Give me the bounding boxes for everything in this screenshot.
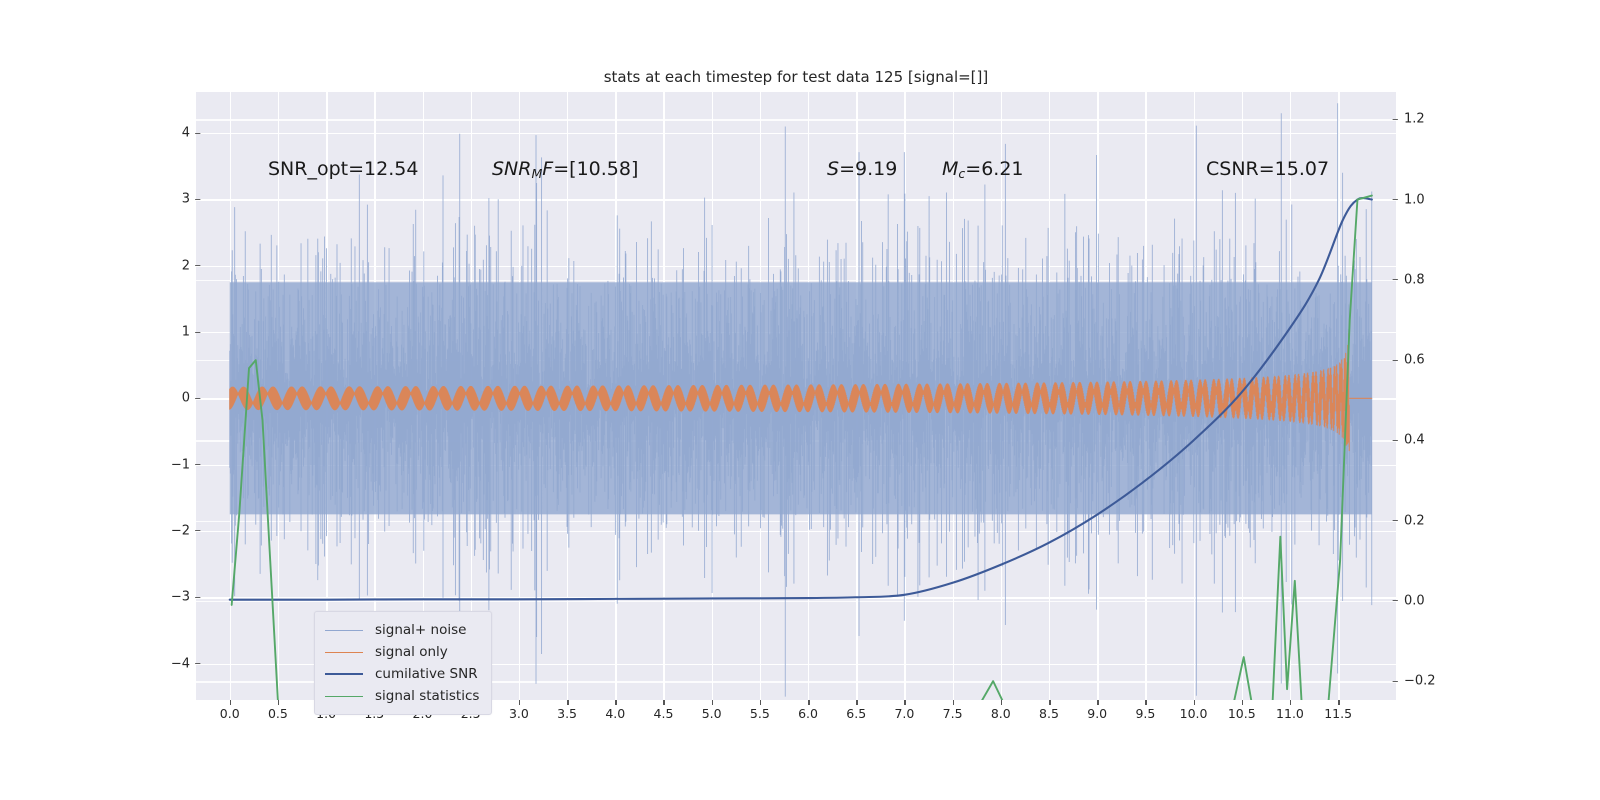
x-axis-tickmark	[856, 700, 858, 705]
y-axis-tick-right: –0.8	[1404, 272, 1494, 287]
x-axis-tickmark	[1290, 700, 1292, 705]
x-axis-tickmark	[1194, 700, 1196, 705]
legend-item[interactable]: signal statistics	[325, 685, 479, 707]
y-axis-tick-left: 0–	[110, 391, 190, 406]
y-axis-tick-right: –1.0	[1404, 192, 1494, 207]
y-axis-tick-left: 4–	[110, 126, 190, 141]
legend-swatch-icon	[325, 673, 363, 675]
y-axis-tick-right: –0.4	[1404, 433, 1494, 448]
x-axis-tickmark	[712, 700, 714, 705]
plot-area	[196, 92, 1396, 700]
y-axis-tick-left: −2–	[110, 523, 190, 538]
y-axis-tick-left: −3–	[110, 590, 190, 605]
y-axis-tick-right: –0.6	[1404, 353, 1494, 368]
annotation-s-stat: S=9.19	[827, 158, 897, 180]
y-axis-tick-left: −4–	[110, 656, 190, 671]
legend-item[interactable]: cumilative SNR	[325, 663, 479, 685]
x-axis-tickmark	[904, 700, 906, 705]
annotation-mc: Mc=6.21	[942, 158, 1024, 181]
legend-item-label: signal+ noise	[375, 622, 466, 638]
page-title: stats at each timestep for test data 125…	[196, 68, 1396, 86]
x-axis-tickmark	[1145, 700, 1147, 705]
x-axis-tickmark	[615, 700, 617, 705]
x-axis-tickmark	[760, 700, 762, 705]
legend-item-label: signal statistics	[375, 688, 479, 704]
legend-item[interactable]: signal+ noise	[325, 619, 479, 641]
legend-swatch-icon	[325, 630, 363, 631]
legend-item[interactable]: signal only	[325, 641, 479, 663]
annotation-csnr: CSNR=15.07	[1206, 158, 1329, 180]
x-axis-tick: 11.5	[1308, 706, 1368, 721]
x-axis-tickmark	[1338, 700, 1340, 705]
x-axis-tickmark	[1097, 700, 1099, 705]
x-axis-tickmark	[953, 700, 955, 705]
y-axis-tick-left: 3–	[110, 192, 190, 207]
plot-canvas	[196, 92, 1396, 700]
x-axis-tickmark	[663, 700, 665, 705]
y-axis-tick-left: 2–	[110, 258, 190, 273]
y-axis-tick-left: −1–	[110, 457, 190, 472]
y-axis-tick-right: –1.2	[1404, 112, 1494, 127]
x-axis-tickmark	[567, 700, 569, 705]
x-axis-tickmark	[519, 700, 521, 705]
legend-item-label: cumilative SNR	[375, 666, 478, 682]
legend-item-label: signal only	[375, 644, 448, 660]
x-axis-tickmark	[1242, 700, 1244, 705]
x-axis-tickmark	[1049, 700, 1051, 705]
y-axis-tick-right: –−0.2	[1404, 674, 1494, 689]
annotation-snr-opt: SNR_opt=12.54	[268, 158, 418, 180]
legend-swatch-icon	[325, 652, 363, 653]
chart-legend[interactable]: signal+ noisesignal onlycumilative SNRsi…	[314, 611, 492, 715]
x-axis-tickmark	[230, 700, 232, 705]
legend-swatch-icon	[325, 696, 363, 697]
annotation-snr-mf: SNRMF=[10.58]	[492, 158, 638, 181]
y-axis-tick-right: –0.0	[1404, 593, 1494, 608]
x-axis-tickmark	[1001, 700, 1003, 705]
x-axis-tickmark	[278, 700, 280, 705]
y-axis-tick-right: –0.2	[1404, 513, 1494, 528]
x-axis-tickmark	[808, 700, 810, 705]
matplotlib-figure: stats at each timestep for test data 125…	[0, 0, 1600, 800]
y-axis-tick-left: 1–	[110, 325, 190, 340]
